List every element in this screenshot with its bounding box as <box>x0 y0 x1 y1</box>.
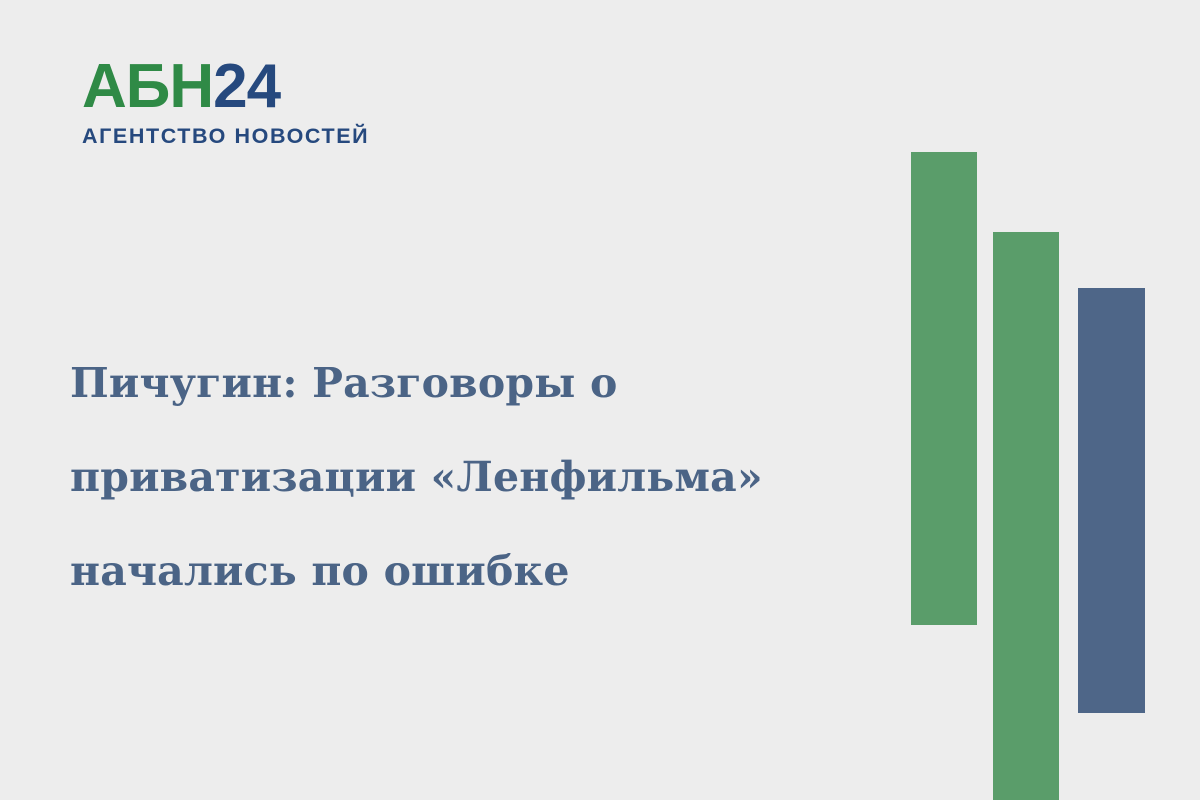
logo-wordmark-24: 24 <box>213 52 280 121</box>
decorative-bar-left <box>911 152 977 625</box>
logo-tagline: АГЕНТСТВО НОВОСТЕЙ <box>82 125 372 148</box>
decorative-bar-right <box>1078 288 1145 713</box>
logo-wordmark: АБН24 <box>82 56 372 118</box>
logo-wordmark-abn: АБН <box>82 52 213 121</box>
abn24-logo[interactable]: АБН24 АГЕНТСТВО НОВОСТЕЙ <box>82 56 372 148</box>
decorative-bar-middle <box>993 232 1059 800</box>
page-title: Пичугин: Разговоры о приватизации «Ленфи… <box>70 336 870 618</box>
news-card: АБН24 АГЕНТСТВО НОВОСТЕЙ Пичугин: Разгов… <box>0 0 1200 800</box>
